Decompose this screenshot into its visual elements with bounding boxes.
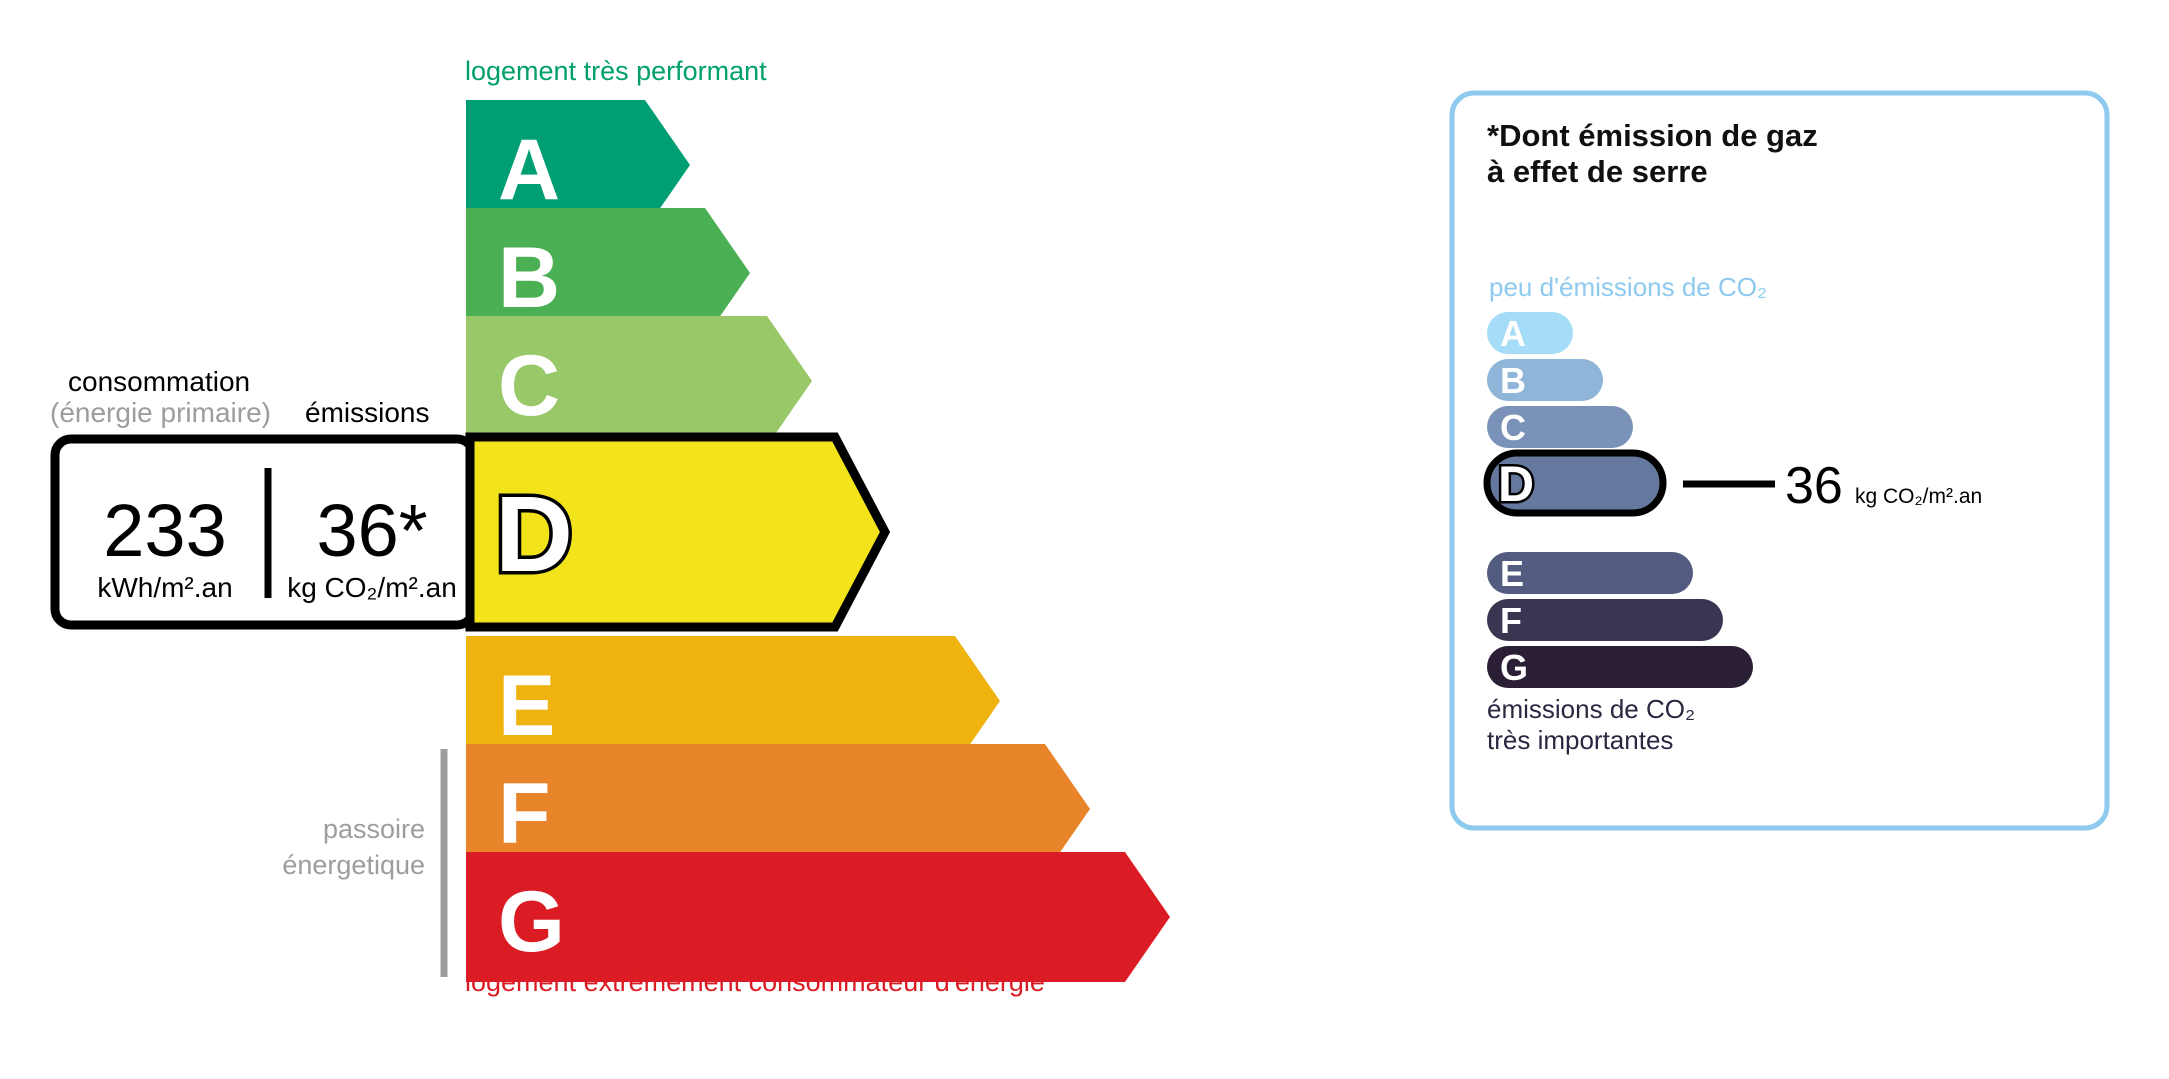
energy-bar-c[interactable]: C bbox=[466, 316, 812, 446]
energy-bar-b-letter: B bbox=[498, 230, 560, 326]
ges-bar-e-letter: E bbox=[1500, 553, 1524, 594]
passoire-label-line2: énergetique bbox=[282, 850, 425, 880]
ges-panel: *Dont émission de gaz à effet de serre p… bbox=[1452, 93, 2107, 828]
energy-top-annotation: logement très performant bbox=[465, 56, 767, 86]
energy-bar-d-current[interactable]: D bbox=[470, 437, 885, 627]
ges-bar-f[interactable]: F bbox=[1487, 599, 1723, 641]
ges-bar-d-letter: D bbox=[1498, 456, 1534, 512]
energy-bar-f-letter: F bbox=[498, 766, 551, 862]
energy-bar-e-letter: E bbox=[498, 658, 555, 754]
ges-bar-c-letter: C bbox=[1500, 407, 1526, 448]
energy-consumption-panel: logement très performant A B C consommat… bbox=[50, 56, 1170, 997]
energy-bar-g[interactable]: G bbox=[466, 852, 1170, 982]
ges-unit: kg CO₂/m².an bbox=[1855, 485, 1982, 508]
ges-bar-a[interactable]: A bbox=[1487, 312, 1573, 354]
ges-bar-g-letter: G bbox=[1500, 647, 1528, 688]
energy-bar-c-letter: C bbox=[498, 338, 560, 434]
emissions-label: émissions bbox=[305, 397, 429, 428]
emissions-unit: kg CO₂/m².an bbox=[287, 572, 457, 603]
ges-bar-g[interactable]: G bbox=[1487, 646, 1753, 688]
energy-bar-a-letter: A bbox=[498, 122, 560, 218]
ges-bar-b[interactable]: B bbox=[1487, 359, 1603, 401]
ges-bar-e[interactable]: E bbox=[1487, 552, 1693, 594]
value-readout-box: 233 kWh/m².an 36* kg CO₂/m².an bbox=[55, 439, 473, 625]
consumption-label-line1: consommation bbox=[68, 366, 250, 397]
emissions-value: 36* bbox=[316, 489, 427, 572]
ges-bar-f-shape bbox=[1487, 599, 1723, 641]
consumption-unit: kWh/m².an bbox=[97, 572, 232, 603]
ges-title-line2: à effet de serre bbox=[1487, 154, 1708, 189]
ges-title-line1: *Dont émission de gaz bbox=[1487, 118, 1818, 153]
ges-value: 36 bbox=[1785, 457, 1843, 515]
dpe-label: logement très performant A B C consommat… bbox=[0, 0, 2169, 1079]
ges-bottom-annotation-line2: très importantes bbox=[1487, 725, 1673, 755]
ges-bottom-annotation-line1: émissions de CO₂ bbox=[1487, 694, 1695, 724]
ges-bar-f-letter: F bbox=[1500, 600, 1522, 641]
consumption-value: 233 bbox=[103, 489, 226, 572]
ges-bar-c[interactable]: C bbox=[1487, 406, 1633, 448]
energy-bar-g-shape bbox=[466, 852, 1170, 982]
energy-bottom-annotation: logement extrêmement consommateur d'éner… bbox=[465, 967, 1045, 997]
energy-bar-d-letter: D bbox=[495, 473, 573, 594]
ges-top-annotation: peu d'émissions de CO₂ bbox=[1489, 272, 1767, 302]
consumption-label-line2: (énergie primaire) bbox=[50, 397, 271, 428]
passoire-label-line1: passoire bbox=[323, 814, 425, 844]
ges-bar-b-letter: B bbox=[1500, 360, 1526, 401]
ges-bar-a-letter: A bbox=[1500, 313, 1526, 354]
energy-bar-g-letter: G bbox=[498, 874, 565, 970]
